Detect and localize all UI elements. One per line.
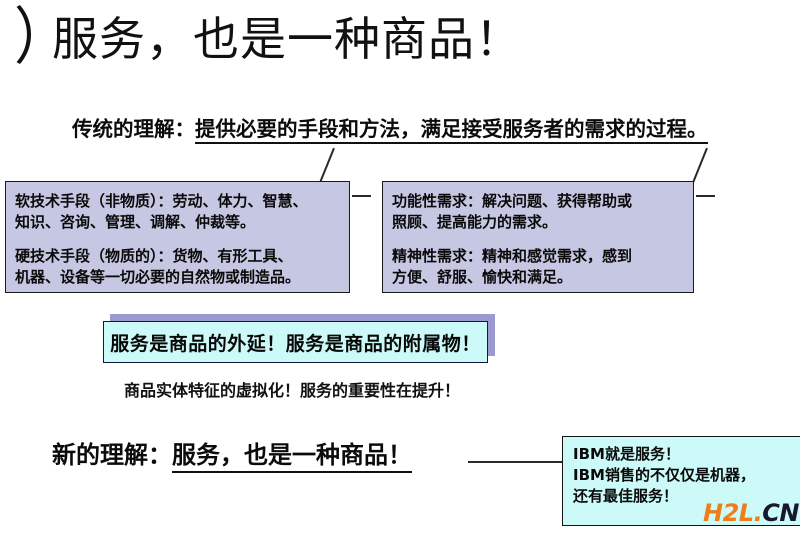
ibm-line-2: IBM销售的不仅仅是机器， <box>573 465 800 486</box>
box-right-spacer <box>392 233 684 246</box>
connector-left-tick <box>352 195 371 197</box>
watermark-secondary: CN <box>762 499 799 527</box>
spiritual-need-line-2: 方便、舒服、愉快和满足。 <box>392 267 684 288</box>
soft-hard-technology-box: 软技术手段（非物质）：劳动、体力、智慧、 知识、咨询、管理、调解、仲裁等。 硬技… <box>5 181 350 293</box>
functional-need-line-1: 功能性需求：解决问题、获得帮助或 <box>392 191 684 212</box>
traditional-definition: 提供必要的手段和方法，满足接受服务者的需求的过程。 <box>195 117 708 144</box>
new-understanding-definition: 服务，也是一种商品！ <box>172 440 412 473</box>
needs-box: 功能性需求：解决问题、获得帮助或 照顾、提高能力的需求。 精神性需求：精神和感觉… <box>382 181 694 293</box>
box-left-spacer <box>15 233 340 246</box>
watermark-primary: H2L. <box>703 499 762 527</box>
spiritual-need-line-1: 精神性需求：精神和感觉需求，感到 <box>392 246 684 267</box>
virtualization-line: 商品实体特征的虚拟化！服务的重要性在提升！ <box>124 381 460 401</box>
traditional-label: 传统的理解： <box>72 117 195 141</box>
slide-canvas: ） 服务，也是一种商品！ 传统的理解：提供必要的手段和方法，满足接受服务者的需求… <box>0 0 800 538</box>
cyan-banner: 服务是商品的外延！服务是商品的附属物！ <box>103 321 488 363</box>
new-understanding-label: 新的理解： <box>52 440 172 469</box>
ibm-line-1: IBM就是服务！ <box>573 444 800 465</box>
soft-tech-line-2: 知识、咨询、管理、调解、仲裁等。 <box>15 212 340 233</box>
functional-need-line-2: 照顾、提高能力的需求。 <box>392 212 684 233</box>
new-understanding-line: 新的理解：服务，也是一种商品！ <box>52 440 412 470</box>
connector-right-tick <box>696 195 715 197</box>
soft-tech-line-1: 软技术手段（非物质）：劳动、体力、智慧、 <box>15 191 340 212</box>
page-title: 服务，也是一种商品！ <box>52 12 522 66</box>
traditional-understanding-line: 传统的理解：提供必要的手段和方法，满足接受服务者的需求的过程。 <box>72 116 708 142</box>
hard-tech-line-1: 硬技术手段（物质的）：货物、有形工具、 <box>15 246 340 267</box>
hard-tech-line-2: 机器、设备等一切必要的自然物或制造品。 <box>15 267 340 288</box>
watermark: H2L.CN <box>703 500 799 526</box>
connector-ibm-line <box>468 461 562 463</box>
cyan-banner-text: 服务是商品的外延！服务是商品的附属物！ <box>110 329 481 356</box>
